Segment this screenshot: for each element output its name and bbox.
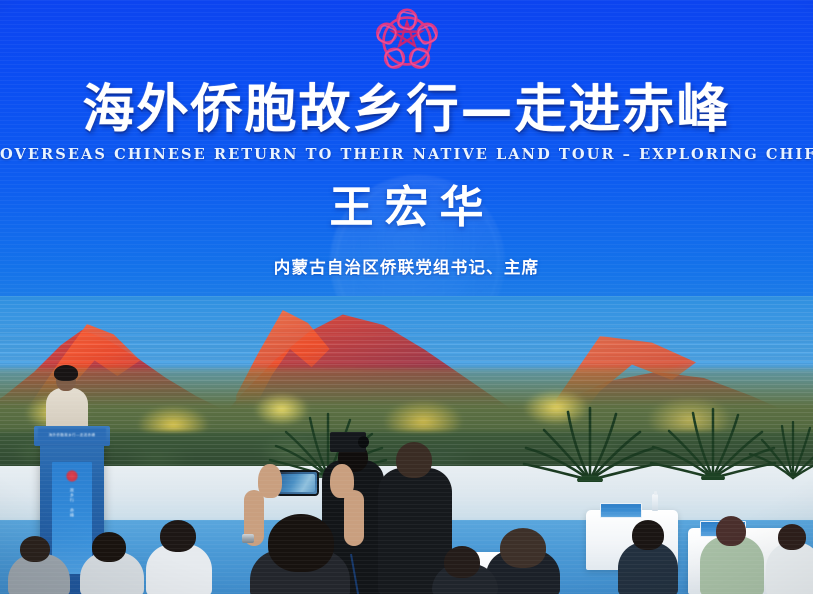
videographer-two-head xyxy=(396,442,432,478)
smartphone-screen xyxy=(280,474,315,492)
attendee-right-one-head xyxy=(716,516,746,546)
cycad-plant-far-right-icon xyxy=(748,418,813,480)
audience-foreground xyxy=(0,424,813,594)
attendee-right-three-head xyxy=(632,520,664,550)
event-title-chinese: 海外侨胞故乡行—走进赤峰 xyxy=(0,84,813,136)
attendee-left-two-head xyxy=(92,532,126,562)
attendee-left-three-head xyxy=(20,536,50,562)
attendee-center-bald-head xyxy=(500,528,546,568)
cycad-plant-center-icon xyxy=(520,402,660,482)
attendee-left-one-head xyxy=(160,520,196,552)
phone-recorder-head xyxy=(268,514,334,572)
attendee-right-two-head xyxy=(778,524,806,550)
overseas-chinese-federation-knot-emblem-icon xyxy=(365,2,449,80)
wristwatch-icon xyxy=(242,534,254,543)
camcorder-lens-icon xyxy=(358,436,369,448)
phone-recorder-right-arm xyxy=(344,490,364,546)
presenter-hair xyxy=(54,365,78,381)
smartphone-icon[interactable] xyxy=(276,470,319,496)
water-bottle-center xyxy=(652,494,658,511)
speaker-name: 王宏华 xyxy=(0,186,813,230)
speaker-title: 内蒙古自治区侨联党组书记、主席 xyxy=(0,254,813,278)
name-card-center xyxy=(600,503,642,518)
screenshot-stage: 海外侨胞故乡行—走进赤峰 OVERSEAS CHINESE RETURN TO … xyxy=(0,0,813,594)
attendee-center-two-head xyxy=(444,546,480,578)
event-title-english: OVERSEAS CHINESE RETURN TO THEIR NATIVE … xyxy=(0,146,813,163)
